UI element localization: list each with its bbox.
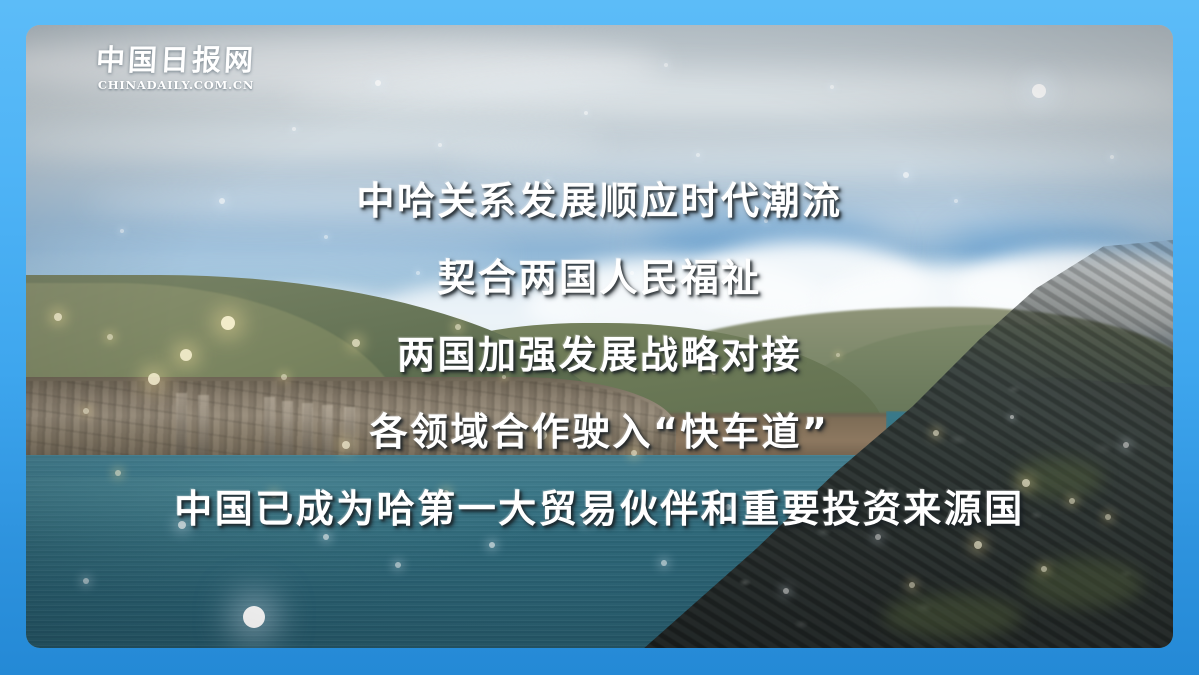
sparkle-particle [909,582,915,588]
moss-patch [883,594,1023,638]
video-surface[interactable]: 中国日报网 CHINADAILY.COM.CN 中哈关系发展顺应时代潮流 契合两… [26,25,1173,648]
china-daily-logo: 中国日报网 CHINADAILY.COM.CN [76,45,276,92]
caption-line-4: 各领域合作驶入“快车道” [26,394,1173,471]
sparkle-particle [395,562,401,568]
sparkle-particle [1041,566,1047,572]
sparkle-particle [783,588,789,594]
sparkle-particle [661,560,667,566]
caption-block: 中哈关系发展顺应时代潮流 契合两国人民福祉 两国加强发展战略对接 各领域合作驶入… [26,163,1173,548]
logo-english-text: CHINADAILY.COM.CN [76,78,276,92]
caption-line-3: 两国加强发展战略对接 [26,317,1173,394]
logo-chinese-text: 中国日报网 [75,45,277,75]
video-player-frame: 中国日报网 CHINADAILY.COM.CN 中哈关系发展顺应时代潮流 契合两… [0,0,1199,675]
caption-line-5: 中国已成为哈第一大贸易伙伴和重要投资来源国 [26,471,1173,548]
caption-line-2: 契合两国人民福祉 [26,240,1173,317]
caption-line-1: 中哈关系发展顺应时代潮流 [26,163,1173,240]
sparkle-particle [243,606,265,628]
sparkle-particle [83,578,89,584]
moss-patch [1023,558,1143,608]
